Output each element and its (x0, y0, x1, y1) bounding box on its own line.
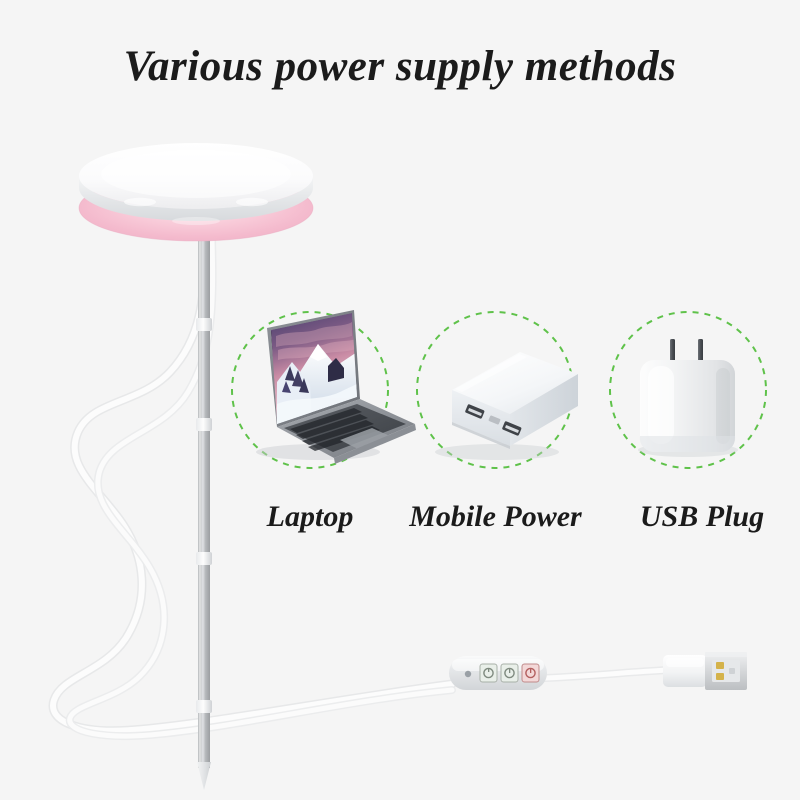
power-bank-icon (435, 352, 578, 460)
cable-controller[interactable] (449, 656, 547, 690)
lamp-head (79, 143, 313, 241)
illustration-canvas (0, 0, 800, 800)
power-cable (53, 235, 668, 736)
option-mobile-power[interactable] (417, 312, 578, 468)
timer-4h-button[interactable] (480, 664, 497, 682)
option-label-mobile-power: Mobile Power (388, 500, 603, 534)
wall-adapter-icon (638, 339, 738, 457)
pole-joint (196, 418, 212, 431)
option-usb-plug[interactable] (610, 312, 766, 468)
timer-12h-button[interactable] (522, 664, 539, 682)
led-dot (465, 671, 471, 677)
pole-joint (196, 700, 212, 713)
usb-contact (716, 662, 724, 669)
usb-contact (716, 673, 724, 680)
lamp-pole (196, 228, 212, 790)
usb-a-connector (663, 652, 747, 690)
option-label-laptop: Laptop (225, 500, 395, 534)
laptop-icon (256, 310, 416, 464)
option-laptop[interactable] (232, 310, 416, 468)
ground-stake-tip (197, 762, 211, 790)
timer-8h-button[interactable] (501, 664, 518, 682)
pole-joint (196, 318, 212, 331)
pole-joint (196, 552, 212, 565)
option-label-usb-plug: USB Plug (612, 500, 792, 534)
product-infographic: Various power supply methods (0, 0, 800, 800)
